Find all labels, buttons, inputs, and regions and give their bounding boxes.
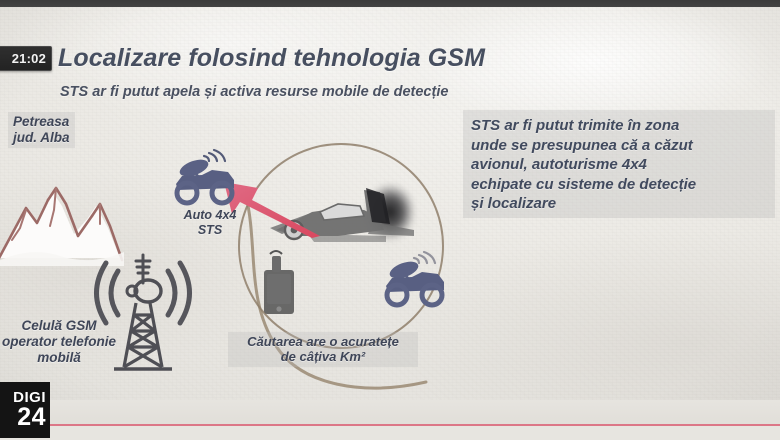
page-subtitle: STS ar fi putut apela și activa resurse … bbox=[60, 84, 448, 100]
page-title: Localizare folosind tehnologia GSM bbox=[58, 44, 485, 73]
label-accuracy-line2: de câțiva Km² bbox=[233, 349, 413, 364]
label-location: Petreasa jud. Alba bbox=[8, 112, 75, 148]
channel-logo-line2: 24 bbox=[17, 405, 46, 430]
channel-logo: DIGI 24 bbox=[0, 382, 50, 438]
top-letterbox-bar bbox=[0, 0, 780, 7]
info-panel-line2: unde se presupunea că a căzut bbox=[471, 136, 767, 156]
info-panel-line5: și localizare bbox=[471, 194, 767, 214]
info-panel-line1: STS ar fi putut trimite în zona bbox=[471, 116, 767, 136]
label-location-line2: jud. Alba bbox=[13, 130, 70, 146]
label-location-line1: Petreasa bbox=[13, 114, 70, 130]
bottom-filler bbox=[0, 426, 780, 440]
label-gsm-cell: Celulă GSM operator telefonie mobilă bbox=[0, 318, 134, 366]
info-panel-line4: echipate cu sisteme de detecție bbox=[471, 175, 767, 195]
info-panel-line3: avionul, autoturisme 4x4 bbox=[471, 155, 767, 175]
atv-satellite-icon bbox=[378, 248, 450, 310]
atv-satellite-icon bbox=[168, 146, 240, 208]
label-gsm-line1: Celulă GSM bbox=[0, 318, 134, 334]
label-search-accuracy: Căutarea are o acuratețe de câțiva Km² bbox=[228, 332, 418, 367]
timestamp-text: 21:02 bbox=[12, 51, 51, 66]
label-vehicle-left: Auto 4x4 STS bbox=[168, 208, 252, 238]
info-panel: STS ar fi putut trimite în zona unde se … bbox=[463, 110, 775, 218]
mobile-phone-icon bbox=[258, 248, 304, 320]
label-vehicle-left-line2: STS bbox=[168, 223, 252, 238]
label-gsm-line3: mobilă bbox=[0, 350, 134, 366]
label-gsm-line2: operator telefonie bbox=[0, 334, 134, 350]
timestamp-badge: 21:02 bbox=[0, 46, 52, 71]
label-accuracy-line1: Căutarea are o acuratețe bbox=[233, 334, 413, 349]
label-vehicle-left-line1: Auto 4x4 bbox=[168, 208, 252, 223]
broadcast-infographic-screen: 21:02 Localizare folosind tehnologia GSM… bbox=[0, 0, 780, 440]
